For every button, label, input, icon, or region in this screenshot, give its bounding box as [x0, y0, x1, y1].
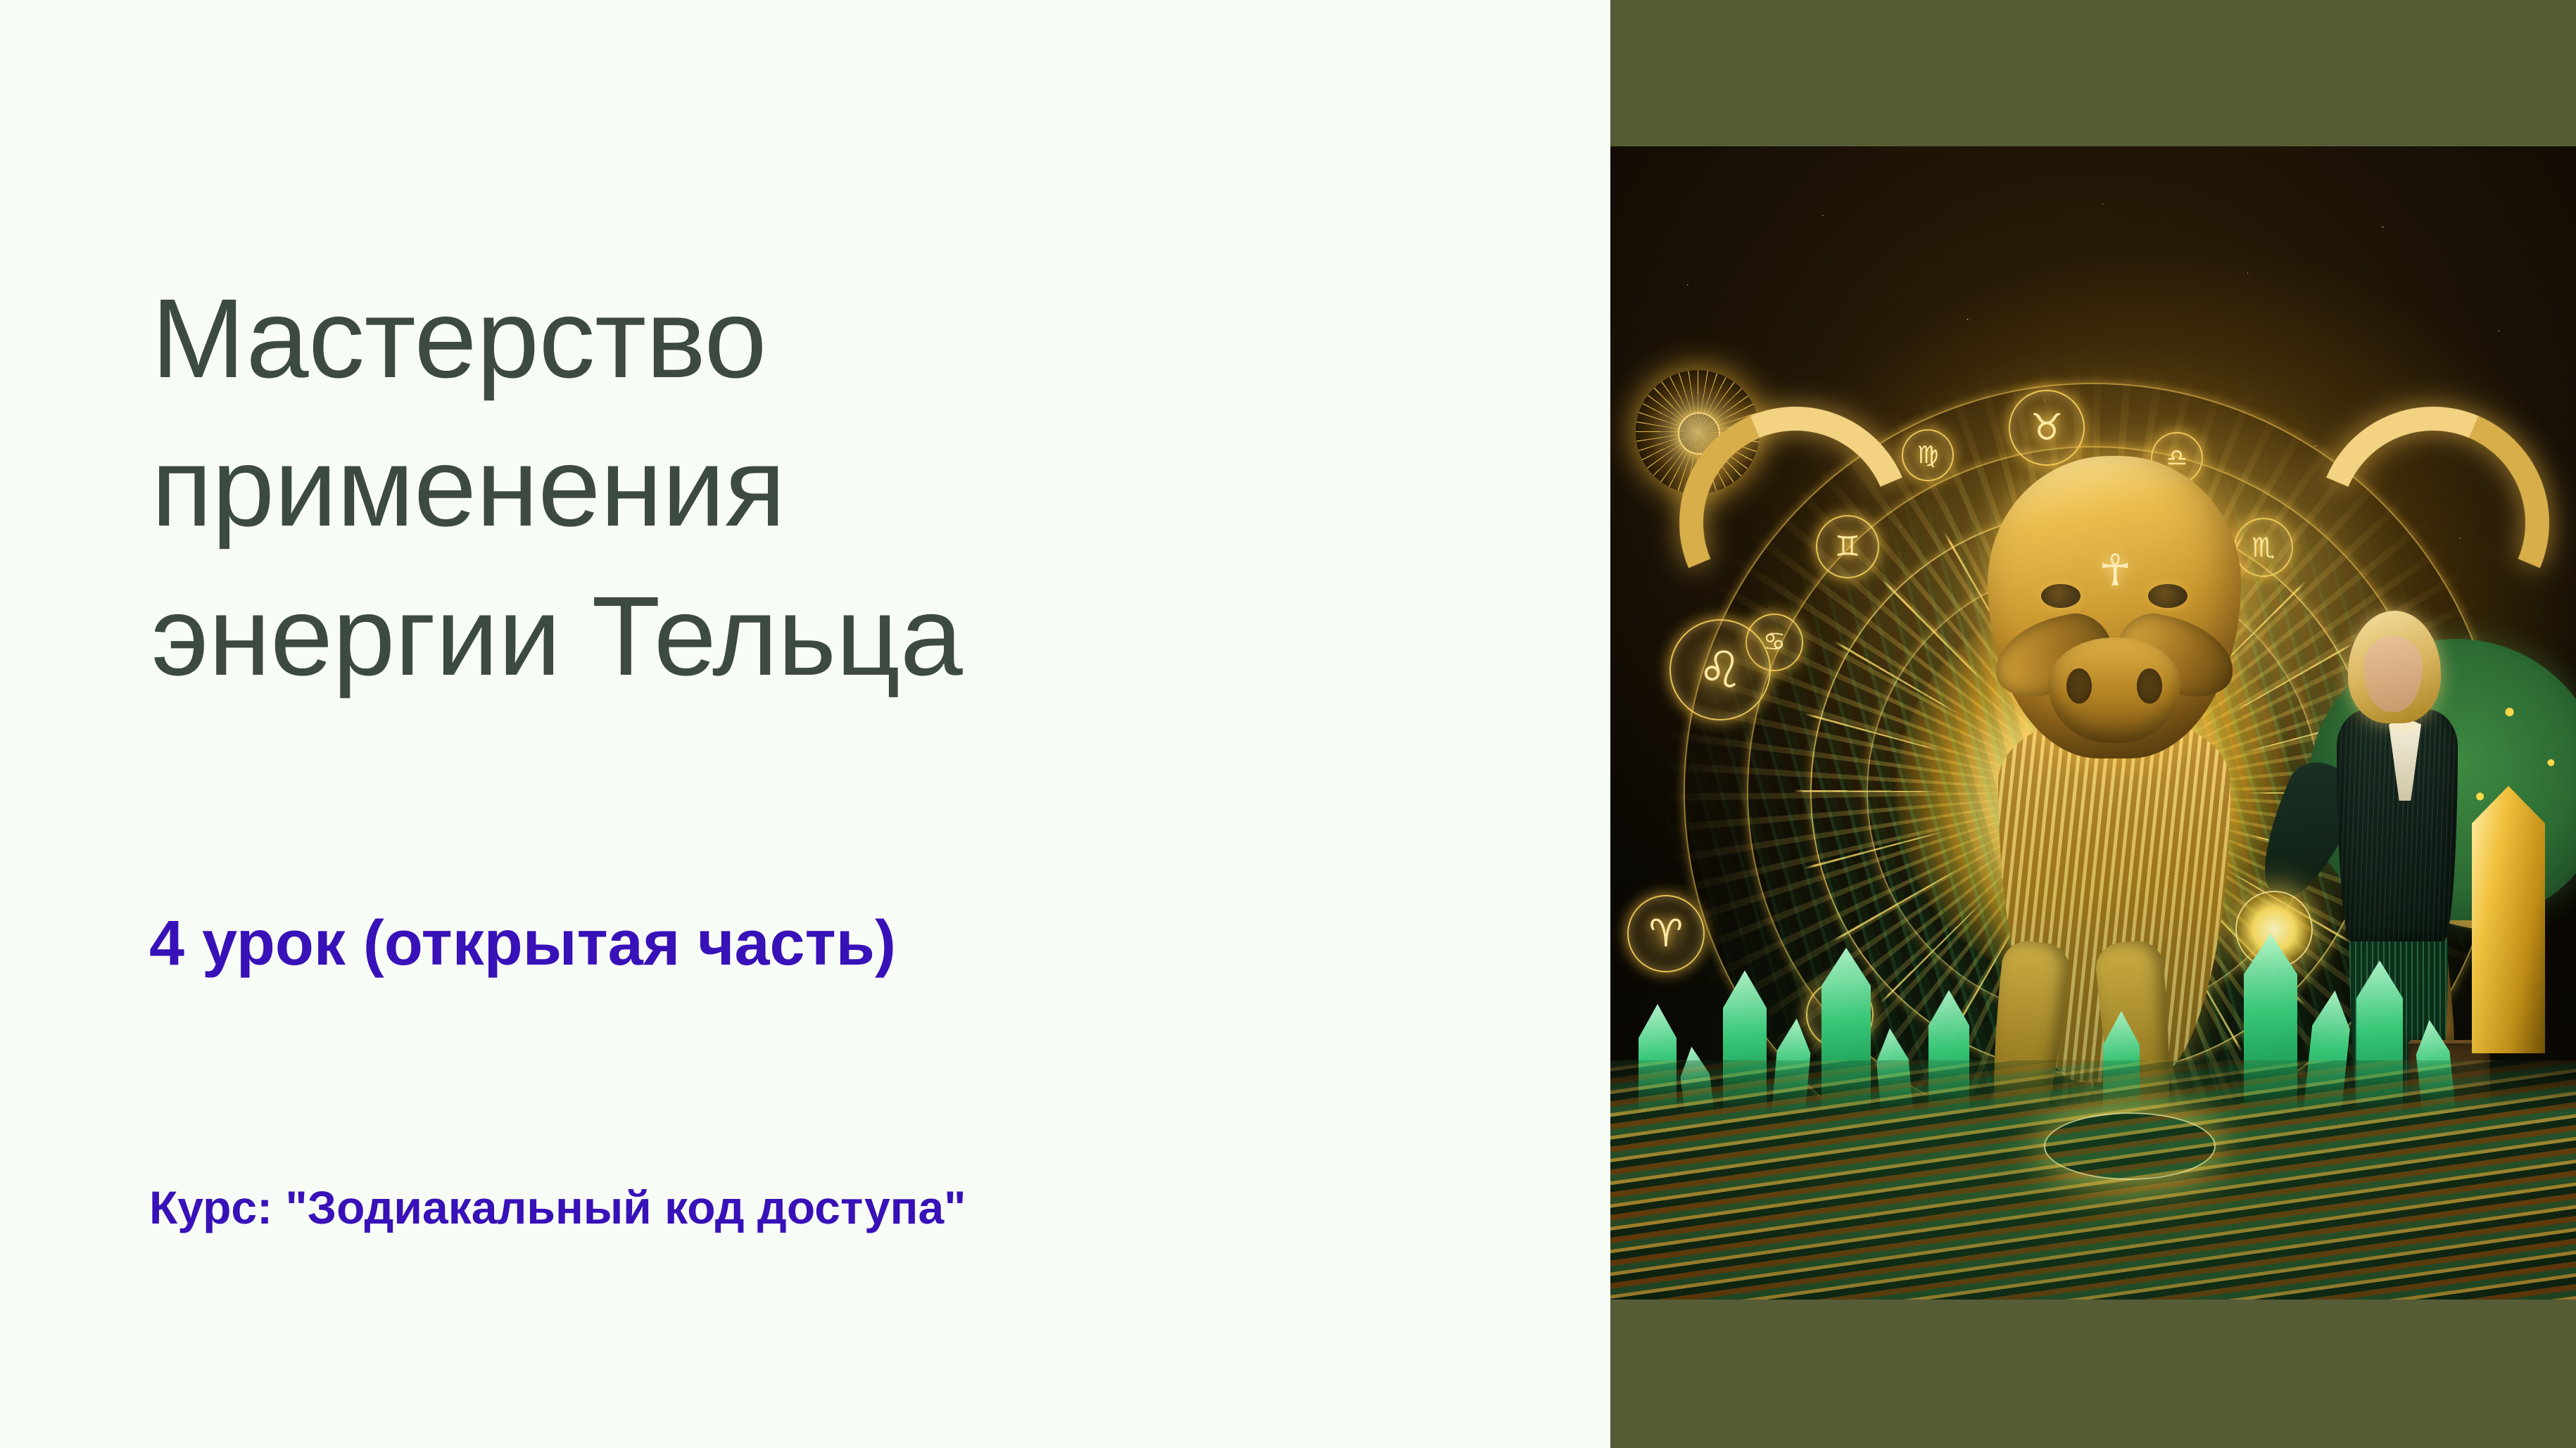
bull-nostril-left — [2066, 668, 2092, 704]
golden-mandala-disc-icon — [2044, 1112, 2216, 1180]
page-title: Мастерство применения энергии Тельца — [151, 264, 1411, 710]
golden-pillar — [2472, 786, 2545, 1053]
bull-eye-right — [2148, 584, 2187, 608]
ankh-symbol-icon: ☥ — [2099, 549, 2130, 592]
bull-head: ☥ — [1988, 456, 2241, 758]
bull-muzzle — [2048, 637, 2180, 743]
image-panel: ♉ ♍ ♎ ♊ ♏ ♋ ♌ ♈ ♉ ☥ — [1610, 0, 2576, 1448]
presentation-slide: Мастерство применения энергии Тельца 4 у… — [0, 0, 2576, 1448]
artwork-illustration: ♉ ♍ ♎ ♊ ♏ ♋ ♌ ♈ ♉ ☥ — [1610, 146, 2576, 1300]
course-label: Курс: "Зодиакальный код доступа" — [149, 1182, 966, 1233]
text-column: Мастерство применения энергии Тельца 4 у… — [0, 0, 1610, 1448]
lesson-label: 4 урок (открытая часть) — [149, 909, 896, 979]
bull-eye-left — [2041, 584, 2081, 608]
flowing-ground — [1610, 1060, 2576, 1300]
bull-nostril-right — [2137, 668, 2162, 704]
